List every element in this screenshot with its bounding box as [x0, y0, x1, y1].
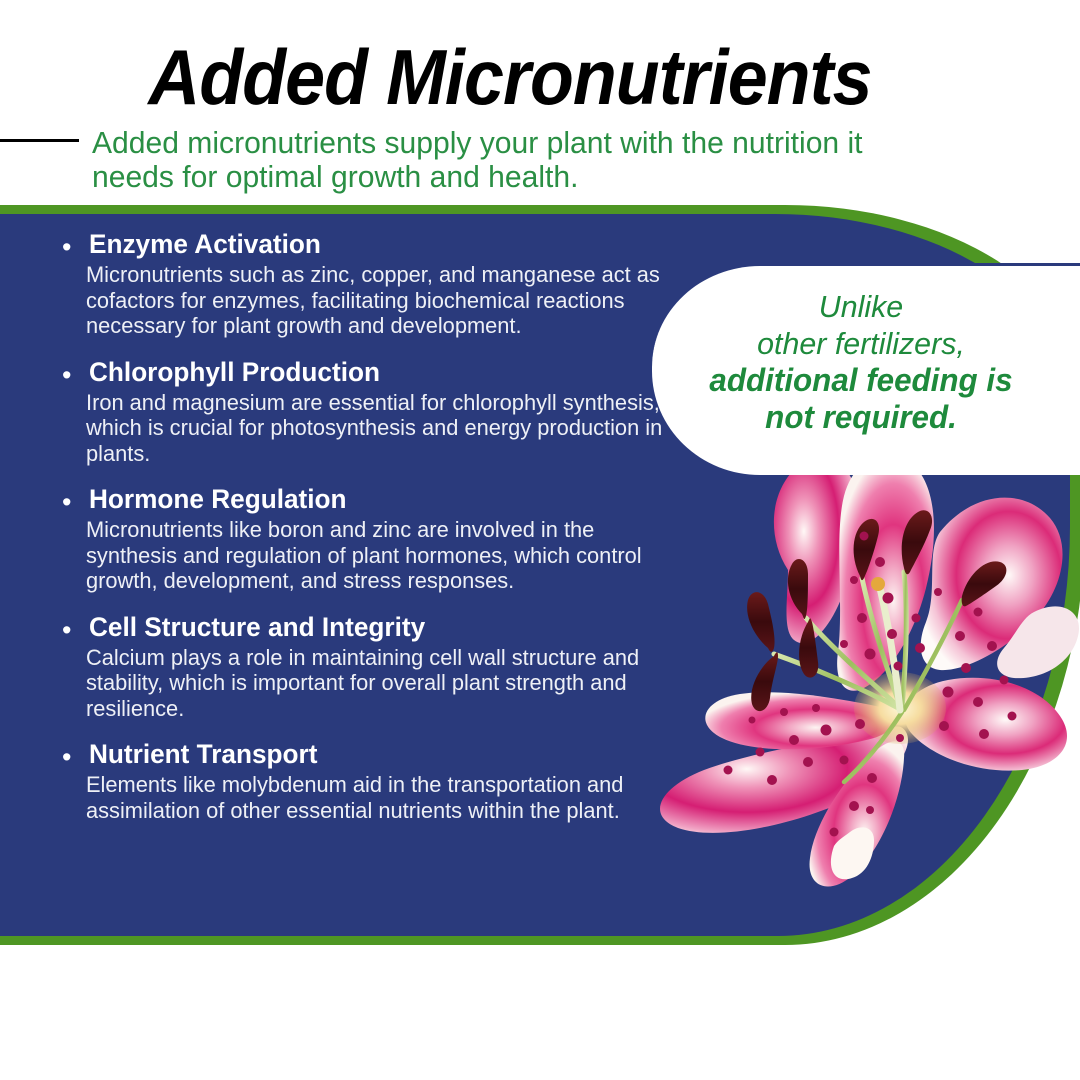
- callout-line-2: other fertilizers,: [757, 326, 965, 361]
- stargazer-lily-image: [648, 440, 1080, 890]
- infographic-canvas: Added Micronutrients Added micronutrient…: [0, 0, 1080, 1080]
- list-item: • Nutrient Transport Elements like molyb…: [60, 738, 700, 823]
- list-item: • Chlorophyll Production Iron and magnes…: [60, 356, 700, 467]
- page-title: Added Micronutrients: [41, 36, 979, 118]
- list-item-heading: Cell Structure and Integrity: [89, 611, 682, 644]
- callout-panel: Unlike other fertilizers, additional fee…: [652, 263, 1080, 475]
- page-subtitle: Added micronutrients supply your plant w…: [92, 126, 917, 194]
- list-item-body: Iron and magnesium are essential for chl…: [86, 390, 682, 467]
- callout-line-3: additional feeding is: [709, 362, 1012, 398]
- bullet-point-icon: •: [62, 615, 71, 645]
- list-item-body: Micronutrients such as zinc, copper, and…: [86, 262, 682, 339]
- list-item-body: Elements like molybdenum aid in the tran…: [86, 772, 682, 823]
- list-item-heading: Hormone Regulation: [89, 483, 682, 516]
- title-divider-rule: [0, 139, 79, 142]
- list-item-body: Calcium plays a role in maintaining cell…: [86, 645, 682, 722]
- bullet-point-icon: •: [62, 742, 71, 772]
- list-item-body: Micronutrients like boron and zinc are i…: [86, 517, 682, 594]
- bullet-point-icon: •: [62, 487, 71, 517]
- bullet-point-icon: •: [62, 232, 71, 262]
- list-item-heading: Enzyme Activation: [89, 228, 682, 261]
- callout-line-4: not required.: [765, 399, 957, 435]
- list-item-heading: Chlorophyll Production: [89, 356, 682, 389]
- benefits-list: • Enzyme Activation Micronutrients such …: [60, 228, 700, 840]
- list-item: • Enzyme Activation Micronutrients such …: [60, 228, 700, 339]
- bullet-point-icon: •: [62, 360, 71, 390]
- callout-text: Unlike other fertilizers, additional fee…: [656, 288, 1066, 436]
- callout-line-1: Unlike: [819, 289, 903, 324]
- list-item-heading: Nutrient Transport: [89, 738, 682, 771]
- list-item: • Hormone Regulation Micronutrients like…: [60, 483, 700, 594]
- list-item: • Cell Structure and Integrity Calcium p…: [60, 611, 700, 722]
